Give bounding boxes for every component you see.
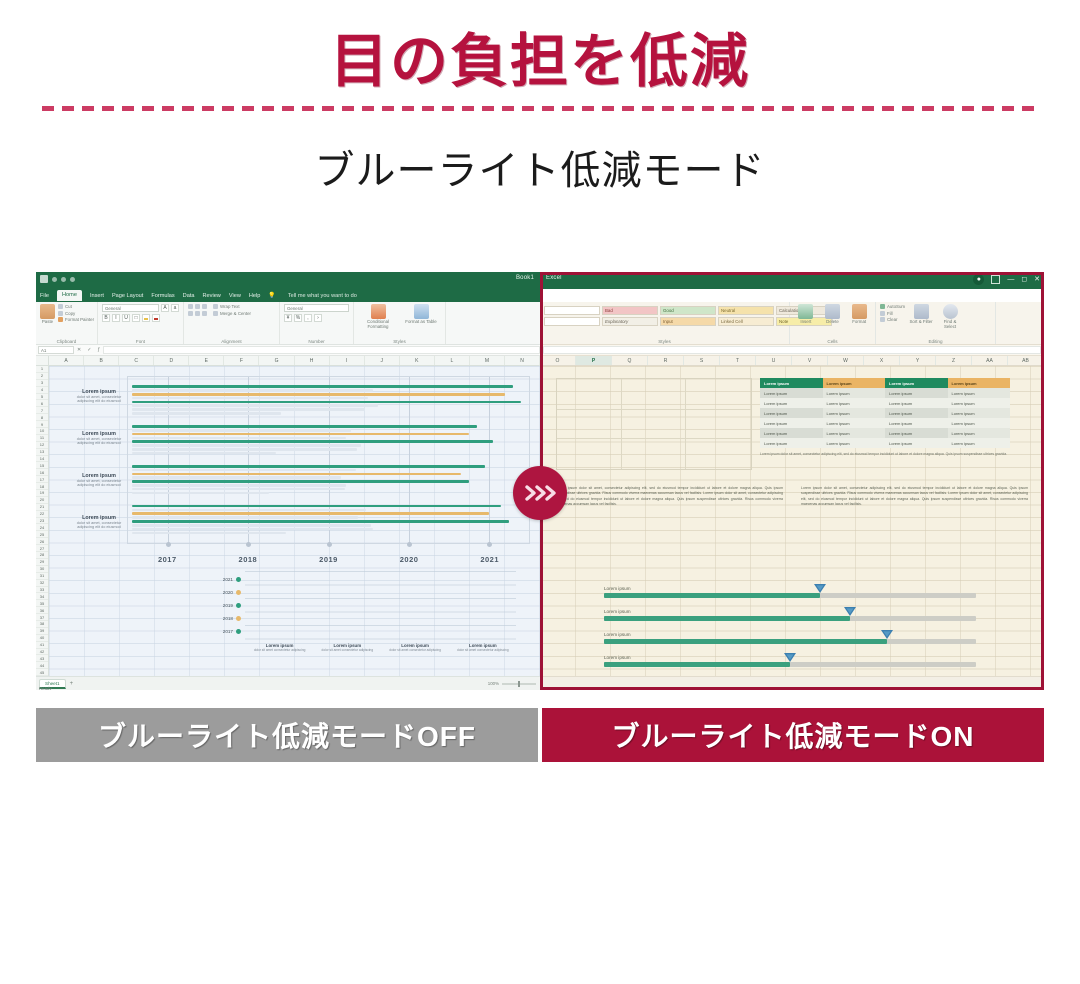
table-cell: Lorem ipsum <box>823 428 886 438</box>
row-header[interactable]: 5 <box>36 394 48 401</box>
progress-fill <box>604 662 790 667</box>
account-icon[interactable]: ● <box>973 274 984 285</box>
table-header-row: Lorem ipsum Lorem ipsum Lorem ipsum Lore… <box>760 378 1010 388</box>
chart-bar-background <box>132 492 269 495</box>
chart-axis-tick <box>487 542 492 547</box>
column-header[interactable]: N <box>505 356 540 365</box>
group-label-font: Font <box>98 339 183 344</box>
ribbon-home: Paste Cut Copy Format Painter Clipboard … <box>36 302 540 345</box>
table-cell: Lorem ipsum <box>823 408 886 418</box>
style-bad[interactable]: Bad <box>602 306 658 315</box>
row-header[interactable]: 28 <box>36 552 48 559</box>
sort-filter-button[interactable]: Sort & Filter <box>908 304 934 325</box>
zoom-slider[interactable] <box>502 683 536 685</box>
sheet-canvas-off[interactable]: Lorem ipsumdolor sit amet, consectetur a… <box>49 366 540 676</box>
dashed-divider <box>42 106 1038 111</box>
app-title: Excel <box>546 275 562 281</box>
chart-axis-tick <box>166 542 171 547</box>
sheet-canvas-on[interactable]: Lorem ipsum Lorem ipsum Lorem ipsum Lore… <box>540 366 1044 676</box>
customize-qat-icon[interactable] <box>70 277 75 282</box>
chart-bar-background <box>132 444 361 447</box>
table-header-cell: Lorem ipsum <box>885 378 948 388</box>
table-cell: Lorem ipsum <box>760 438 823 448</box>
status-bar-off: Sheet1 + Ready 100% <box>36 676 540 690</box>
progress-track <box>604 616 976 621</box>
table-cell: Lorem ipsum <box>885 438 948 448</box>
chart-bar <box>132 433 469 436</box>
legend-swatch <box>236 577 241 582</box>
table-body: Lorem ipsumLorem ipsumLorem ipsumLorem i… <box>760 388 1010 448</box>
title-bar-on: Excel ● — ◻ ✕ <box>540 272 1044 289</box>
column-header[interactable]: L <box>435 356 470 365</box>
row-header[interactable]: 44 <box>36 662 48 669</box>
formula-input[interactable] <box>103 346 540 354</box>
tab-view[interactable]: View <box>229 293 241 299</box>
wrap-text-button[interactable]: Wrap Text <box>213 304 240 309</box>
document-content-on: Lorem ipsum Lorem ipsum Lorem ipsum Lore… <box>548 374 1036 672</box>
table-cell: Lorem ipsum <box>760 408 823 418</box>
promo-page: 目の負担を低減 ブルーライト低減モード Book1 File Home Inse… <box>0 0 1080 984</box>
format-as-table-button[interactable]: Format as Table <box>401 304 441 325</box>
row-header[interactable]: 17 <box>36 476 48 483</box>
page-title: 目の負担を低減 <box>0 14 1080 98</box>
legend-swatch <box>236 590 241 595</box>
tab-formulas[interactable]: Formulas <box>151 293 174 299</box>
tab-insert[interactable]: Insert <box>90 293 104 299</box>
row-header[interactable]: 23 <box>36 518 48 525</box>
table-cell: Lorem ipsum <box>760 398 823 408</box>
ribbon-group-cells: Insert Delete Format Cells <box>790 302 876 344</box>
row-header[interactable]: 30 <box>36 566 48 573</box>
column-bar-chart: 20212020201920182017 Lorem ipsumdolor si… <box>207 571 520 671</box>
chart-bar-background <box>132 532 286 535</box>
style-neutral[interactable]: Neutral <box>718 306 774 315</box>
ribbon-group-font: General A a B I U □ Font <box>98 302 184 344</box>
row-header[interactable]: 37 <box>36 614 48 621</box>
horizontal-bar-chart: Lorem ipsumdolor sit amet, consectetur a… <box>73 376 534 564</box>
paragraph-columns: Lorem ipsum dolor sit amet, consectetur … <box>556 486 1028 507</box>
font-color-picker[interactable] <box>152 314 160 322</box>
fill-icon <box>880 311 885 316</box>
group-label-clipboard: Clipboard <box>36 339 97 344</box>
add-sheet-icon[interactable]: + <box>70 681 74 687</box>
merge-cells-icon <box>213 311 218 316</box>
column-header[interactable]: M <box>470 356 505 365</box>
cut-button[interactable]: Cut <box>58 304 94 309</box>
insert-cells-icon <box>798 304 813 319</box>
paintbrush-icon <box>58 317 63 322</box>
table-cell: Lorem ipsum <box>823 388 886 398</box>
minimize-icon[interactable]: — <box>1007 276 1014 283</box>
column-header[interactable]: R <box>648 356 684 365</box>
legend-item: 2021 <box>207 573 241 586</box>
progress-fill <box>604 593 820 598</box>
style-linked-cell[interactable]: Linked Cell <box>718 317 774 326</box>
chart-bar-background <box>132 484 346 487</box>
chart-bar <box>132 480 469 483</box>
group-label-alignment: Alignment <box>184 339 279 344</box>
table-cell: Lorem ipsum <box>760 418 823 428</box>
row-header[interactable]: 13 <box>36 449 48 456</box>
row-header[interactable]: 6 <box>36 400 48 407</box>
row-header[interactable]: 27 <box>36 545 48 552</box>
format-table-icon <box>414 304 429 319</box>
table-cell: Lorem ipsum <box>885 408 948 418</box>
chart-bar <box>132 520 509 523</box>
ribbon-group-number: General ¥ % , › Number <box>280 302 354 344</box>
column-header[interactable]: D <box>154 356 189 365</box>
zoom-level: 100% <box>488 681 499 686</box>
table-cell: Lorem ipsum <box>823 438 886 448</box>
row-header[interactable]: 11 <box>36 435 48 442</box>
data-table: Lorem ipsum Lorem ipsum Lorem ipsum Lore… <box>760 378 1010 457</box>
title-bar: Book1 <box>36 272 540 289</box>
group-label-cells: Cells <box>790 339 875 344</box>
row-header-gutter[interactable]: 1234567891011121314151617181920212223242… <box>36 366 49 676</box>
tab-review[interactable]: Review <box>203 293 221 299</box>
delete-cells-button[interactable]: Delete <box>821 304 845 325</box>
column-header[interactable]: E <box>189 356 224 365</box>
grid-area-off: 1234567891011121314151617181920212223242… <box>36 366 540 676</box>
column-header[interactable]: Z <box>936 356 972 365</box>
chart-bar <box>132 512 489 515</box>
row-header[interactable]: 7 <box>36 407 48 414</box>
progress-track <box>604 662 976 667</box>
find-select-button[interactable]: Find & Select <box>937 304 963 330</box>
conditional-formatting-button[interactable]: Conditional Formatting <box>358 304 398 330</box>
chart-bar <box>132 448 357 451</box>
column-header-row-off: A B C D E F G H I J K L M N <box>36 356 540 366</box>
chart-x-tick-label: 2021 <box>480 555 499 564</box>
tab-help[interactable]: Help <box>249 293 261 299</box>
chart-bar-background <box>132 524 371 527</box>
merge-center-button[interactable]: Merge & Center <box>213 311 251 316</box>
chart-bar-background <box>132 476 341 479</box>
column-header[interactable]: O <box>540 356 576 365</box>
format-cells-button[interactable]: Format <box>847 304 871 325</box>
copy-button[interactable]: Copy <box>58 311 94 316</box>
column-header[interactable]: K <box>400 356 435 365</box>
ribbon-group-styles-on: Bad Good Neutral Calculation Explanatory… <box>540 302 790 344</box>
chart-x-tick-label: 2019 <box>319 555 338 564</box>
table-row: Lorem ipsumLorem ipsumLorem ipsumLorem i… <box>760 408 1010 418</box>
insert-function-icon[interactable]: ƒ <box>97 347 100 353</box>
ribbon-display-options-icon[interactable] <box>991 275 1000 284</box>
chart-bar <box>132 408 365 411</box>
row-header[interactable]: 32 <box>36 580 48 587</box>
table-header-cell: Lorem ipsum <box>760 378 823 388</box>
column-header[interactable]: Q <box>612 356 648 365</box>
column-header[interactable]: I <box>330 356 365 365</box>
confirm-formula-icon[interactable]: ✓ <box>87 347 91 353</box>
chart-bar-background <box>132 389 373 392</box>
cell-styles-gallery[interactable]: Bad Good Neutral Calculation Explanatory… <box>544 304 832 326</box>
clear-button[interactable]: Clear <box>880 317 905 322</box>
chart-bar <box>132 488 345 491</box>
column-header[interactable]: H <box>295 356 330 365</box>
ribbon-home-on: Bad Good Neutral Calculation Explanatory… <box>540 302 1044 345</box>
increase-decimal-icon[interactable]: › <box>314 314 322 322</box>
name-box[interactable]: A1 <box>38 346 74 354</box>
row-header[interactable]: 14 <box>36 456 48 463</box>
underline-button[interactable]: U <box>122 314 130 322</box>
row-header[interactable]: 34 <box>36 593 48 600</box>
row-header[interactable]: 3 <box>36 380 48 387</box>
comma-icon[interactable]: , <box>304 314 312 322</box>
align-bottom-icon[interactable] <box>202 304 207 309</box>
undo-icon[interactable] <box>52 277 57 282</box>
diamond-marker-icon <box>844 607 856 616</box>
copy-icon <box>58 311 63 316</box>
progress-bar-label: Lorem ipsum <box>604 632 976 637</box>
row-header[interactable]: 26 <box>36 538 48 545</box>
ribbon-group-clipboard: Paste Cut Copy Format Painter Clipboard <box>36 302 98 344</box>
row-header[interactable]: 12 <box>36 442 48 449</box>
table-row: Lorem ipsumLorem ipsumLorem ipsumLorem i… <box>760 418 1010 428</box>
italic-button[interactable]: I <box>112 314 120 322</box>
legend-swatch <box>236 616 241 621</box>
row-header[interactable]: 31 <box>36 573 48 580</box>
row-header[interactable]: 29 <box>36 559 48 566</box>
row-header[interactable]: 25 <box>36 531 48 538</box>
chart-legend: 20212020201920182017 <box>207 573 241 638</box>
group-label-styles-on: Styles <box>540 339 789 344</box>
chart-bar-background <box>132 437 346 440</box>
align-middle-icon[interactable] <box>195 304 200 309</box>
progress-bar-chart: Lorem ipsumLorem ipsumLorem ipsumLorem i… <box>604 586 976 676</box>
row-header[interactable]: 38 <box>36 621 48 628</box>
format-painter-button[interactable]: Format Painter <box>58 317 94 322</box>
column-chart-gridlines <box>245 571 516 641</box>
row-header[interactable]: 40 <box>36 635 48 642</box>
progress-bar-label: Lorem ipsum <box>604 609 976 614</box>
chart-axis-tick <box>407 542 412 547</box>
style-explanatory[interactable]: Explanatory <box>602 317 658 326</box>
chart-plot-area-columns: Lorem ipsumdolor sit amet consectetur ad… <box>245 571 516 641</box>
table-row: Lorem ipsumLorem ipsumLorem ipsumLorem i… <box>760 388 1010 398</box>
tab-home[interactable]: Home <box>57 290 82 301</box>
scissors-icon <box>58 304 63 309</box>
progress-track <box>604 593 976 598</box>
chart-category-label: Lorem ipsumdolor sit amet, consectetur a… <box>73 431 125 446</box>
chart-axis-tick <box>246 542 251 547</box>
currency-icon[interactable]: ¥ <box>284 314 292 322</box>
table-cell: Lorem ipsum <box>823 398 886 408</box>
row-header[interactable]: 24 <box>36 524 48 531</box>
align-right-icon[interactable] <box>202 311 207 316</box>
legend-item: 2019 <box>207 599 241 612</box>
column-header[interactable]: B <box>84 356 119 365</box>
row-header[interactable]: 10 <box>36 428 48 435</box>
font-size-increase-icon[interactable]: A <box>161 304 169 312</box>
table-footnote: Lorem ipsum dolor sit amet, consectetur … <box>760 452 1010 457</box>
mode-labels: ブルーライト低減モードOFF ブルーライト低減モードON <box>36 708 1044 762</box>
table-cell: Lorem ipsum <box>885 428 948 438</box>
column-header-row-on: O P Q R S T U V W X Y Z AA AB <box>540 356 1044 366</box>
align-top-icon[interactable] <box>188 304 193 309</box>
table-cell: Lorem ipsum <box>823 418 886 428</box>
progress-bar-label: Lorem ipsum <box>604 586 976 591</box>
label-mode-off: ブルーライト低減モードOFF <box>36 708 538 762</box>
column-header[interactable]: AB <box>1008 356 1044 365</box>
window-controls[interactable]: ● — ◻ ✕ <box>973 274 1040 285</box>
legend-item: 2017 <box>207 625 241 638</box>
autosum-icon <box>880 304 885 309</box>
row-header[interactable]: 33 <box>36 587 48 594</box>
chart-bar <box>132 528 373 531</box>
row-header[interactable]: 9 <box>36 421 48 428</box>
paragraph-left: Lorem ipsum dolor sit amet, consectetur … <box>556 486 783 507</box>
align-left-icon[interactable] <box>188 311 193 316</box>
chart-bar-background <box>132 404 378 407</box>
row-header[interactable]: 4 <box>36 387 48 394</box>
chart-bar-background <box>132 509 366 512</box>
column-header[interactable]: J <box>365 356 400 365</box>
style-input[interactable]: Input <box>660 317 716 326</box>
chart-bar <box>132 465 485 468</box>
row-header[interactable]: 22 <box>36 511 48 518</box>
column-header[interactable]: F <box>224 356 259 365</box>
style-normal[interactable] <box>544 306 600 315</box>
label-mode-on: ブルーライト低減モードON <box>542 708 1044 762</box>
save-icon[interactable] <box>40 275 48 283</box>
column-header[interactable]: U <box>756 356 792 365</box>
column-header[interactable]: T <box>720 356 756 365</box>
table-cell: Lorem ipsum <box>948 408 1011 418</box>
chart-bar <box>132 385 513 388</box>
row-header[interactable]: 1 <box>36 366 48 373</box>
column-header[interactable]: S <box>684 356 720 365</box>
conditional-formatting-icon <box>371 304 386 319</box>
column-header[interactable]: V <box>792 356 828 365</box>
column-header[interactable]: Y <box>900 356 936 365</box>
borders-icon[interactable]: □ <box>132 314 140 322</box>
cancel-formula-icon[interactable]: ✕ <box>77 347 81 353</box>
row-header[interactable]: 21 <box>36 504 48 511</box>
delete-cells-icon <box>825 304 840 319</box>
row-header[interactable]: 8 <box>36 414 48 421</box>
column-header[interactable]: X <box>864 356 900 365</box>
table-cell: Lorem ipsum <box>885 398 948 408</box>
chart-category-label: Lorem ipsumdolor sit amet, consectetur a… <box>73 473 125 488</box>
chart-category-label: Lorem ipsumdolor sit amet consectetur ad… <box>443 643 523 652</box>
transition-badge <box>513 466 567 520</box>
row-header[interactable]: 42 <box>36 649 48 656</box>
ribbon-tab-strip[interactable]: File Home Insert Page Layout Formulas Da… <box>36 289 540 302</box>
column-header[interactable]: A <box>49 356 84 365</box>
wrap-text-icon <box>213 304 218 309</box>
chart-bar <box>132 393 505 396</box>
table-header-cell: Lorem ipsum <box>823 378 886 388</box>
font-size-decrease-icon[interactable]: a <box>171 304 179 312</box>
page-subtitle: ブルーライト低減モード <box>0 138 1080 196</box>
chart-axis-tick <box>327 542 332 547</box>
column-header[interactable]: W <box>828 356 864 365</box>
font-name-input[interactable]: General <box>102 304 159 312</box>
row-header[interactable]: 43 <box>36 655 48 662</box>
style-good[interactable]: Good <box>660 306 716 315</box>
document-title: Book1 <box>516 275 534 281</box>
bold-button[interactable]: B <box>102 314 110 322</box>
eraser-icon <box>880 317 885 322</box>
align-center-icon[interactable] <box>195 311 200 316</box>
column-header[interactable]: AA <box>972 356 1008 365</box>
chart-x-tick-label: 2017 <box>158 555 177 564</box>
tell-me-search[interactable]: Tell me what you want to do <box>288 293 357 299</box>
restore-icon[interactable]: ◻ <box>1021 276 1027 283</box>
paragraph-right: Lorem ipsum dolor sit amet, consectetur … <box>801 486 1028 507</box>
number-format-select[interactable]: General <box>284 304 349 312</box>
percent-icon[interactable]: % <box>294 314 302 322</box>
progress-fill <box>604 616 850 621</box>
row-header[interactable]: 36 <box>36 607 48 614</box>
progress-bar-row: Lorem ipsum <box>604 655 976 676</box>
chart-bar <box>132 505 501 508</box>
legend-item: 2018 <box>207 612 241 625</box>
zoom-control[interactable]: 100% <box>488 681 536 686</box>
table-cell: Lorem ipsum <box>948 398 1011 408</box>
tab-page-layout[interactable]: Page Layout <box>112 293 143 299</box>
column-header[interactable]: G <box>259 356 294 365</box>
progress-bar-row: Lorem ipsum <box>604 609 976 632</box>
insert-cells-button[interactable]: Insert <box>794 304 818 325</box>
legend-swatch <box>236 629 241 634</box>
tab-file[interactable]: File <box>40 293 49 299</box>
row-header[interactable]: 18 <box>36 483 48 490</box>
row-header[interactable]: 19 <box>36 490 48 497</box>
empty-outline-panel <box>556 378 752 470</box>
fill-button[interactable]: Fill <box>880 311 905 316</box>
row-header[interactable]: 35 <box>36 600 48 607</box>
autosum-button[interactable]: AutoSum <box>880 304 905 309</box>
row-header[interactable]: 16 <box>36 469 48 476</box>
tab-data[interactable]: Data <box>183 293 195 299</box>
table-cell: Lorem ipsum <box>885 388 948 398</box>
grid-area-on: Lorem ipsum Lorem ipsum Lorem ipsum Lore… <box>540 366 1044 676</box>
format-cells-icon <box>852 304 867 319</box>
table-cell: Lorem ipsum <box>948 388 1011 398</box>
redo-icon[interactable] <box>61 277 66 282</box>
lightbulb-icon: 💡 <box>268 292 275 299</box>
paste-button[interactable]: Paste <box>40 304 55 325</box>
chart-bar <box>132 401 521 404</box>
close-icon[interactable]: ✕ <box>1034 276 1040 283</box>
column-header-selected[interactable]: P <box>576 356 612 365</box>
chart-bar-background <box>132 452 276 455</box>
row-header[interactable]: 39 <box>36 628 48 635</box>
chart-bar <box>132 440 493 443</box>
column-header[interactable]: C <box>119 356 154 365</box>
group-label-styles: Styles <box>354 339 445 344</box>
row-header[interactable]: 20 <box>36 497 48 504</box>
chart-bar-background <box>132 397 368 400</box>
chart-x-tick-label: 2020 <box>400 555 419 564</box>
diamond-marker-icon <box>881 630 893 639</box>
table-cell: Lorem ipsum <box>760 388 823 398</box>
fill-color-picker[interactable] <box>142 314 150 322</box>
row-header[interactable]: 15 <box>36 462 48 469</box>
formula-input-on[interactable] <box>543 346 1041 354</box>
quick-access-toolbar[interactable] <box>40 275 75 283</box>
row-header[interactable]: 2 <box>36 373 48 380</box>
diamond-marker-icon <box>784 653 796 662</box>
select-all-corner[interactable] <box>36 356 49 365</box>
search-icon <box>943 304 958 319</box>
row-header[interactable]: 41 <box>36 642 48 649</box>
table-cell: Lorem ipsum <box>948 418 1011 428</box>
style-comma[interactable] <box>544 317 600 326</box>
chart-bar-background <box>132 412 281 415</box>
